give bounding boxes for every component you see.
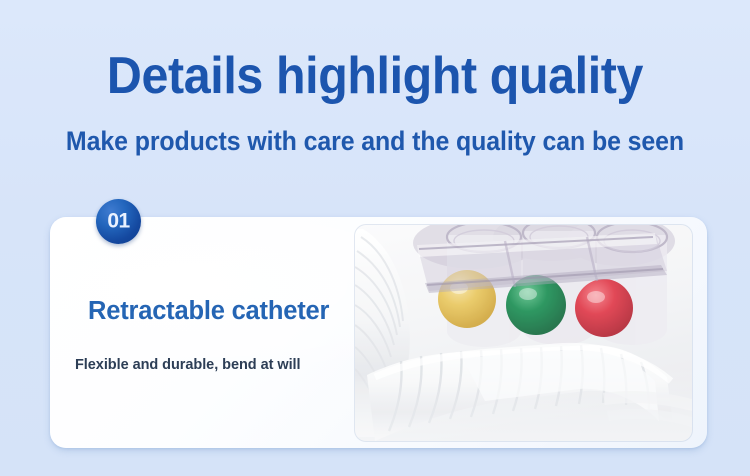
- page-title: Details highlight quality: [26, 0, 724, 106]
- step-number-label: 01: [107, 211, 129, 232]
- step-number-badge: 01: [96, 199, 141, 244]
- header-block: Details highlight quality Make products …: [0, 0, 750, 157]
- product-photo: Transparent corrugated medical catheter …: [355, 225, 692, 441]
- promo-banner: Details highlight quality Make products …: [0, 0, 750, 476]
- card-heading: Retractable catheter: [88, 296, 329, 326]
- card-text-area: Retractable catheter Flexible and durabl…: [50, 217, 360, 448]
- product-photo-illustration: [355, 225, 692, 441]
- page-subtitle: Make products with care and the quality …: [23, 106, 728, 157]
- card-subheading: Flexible and durable, bend at will: [75, 355, 301, 375]
